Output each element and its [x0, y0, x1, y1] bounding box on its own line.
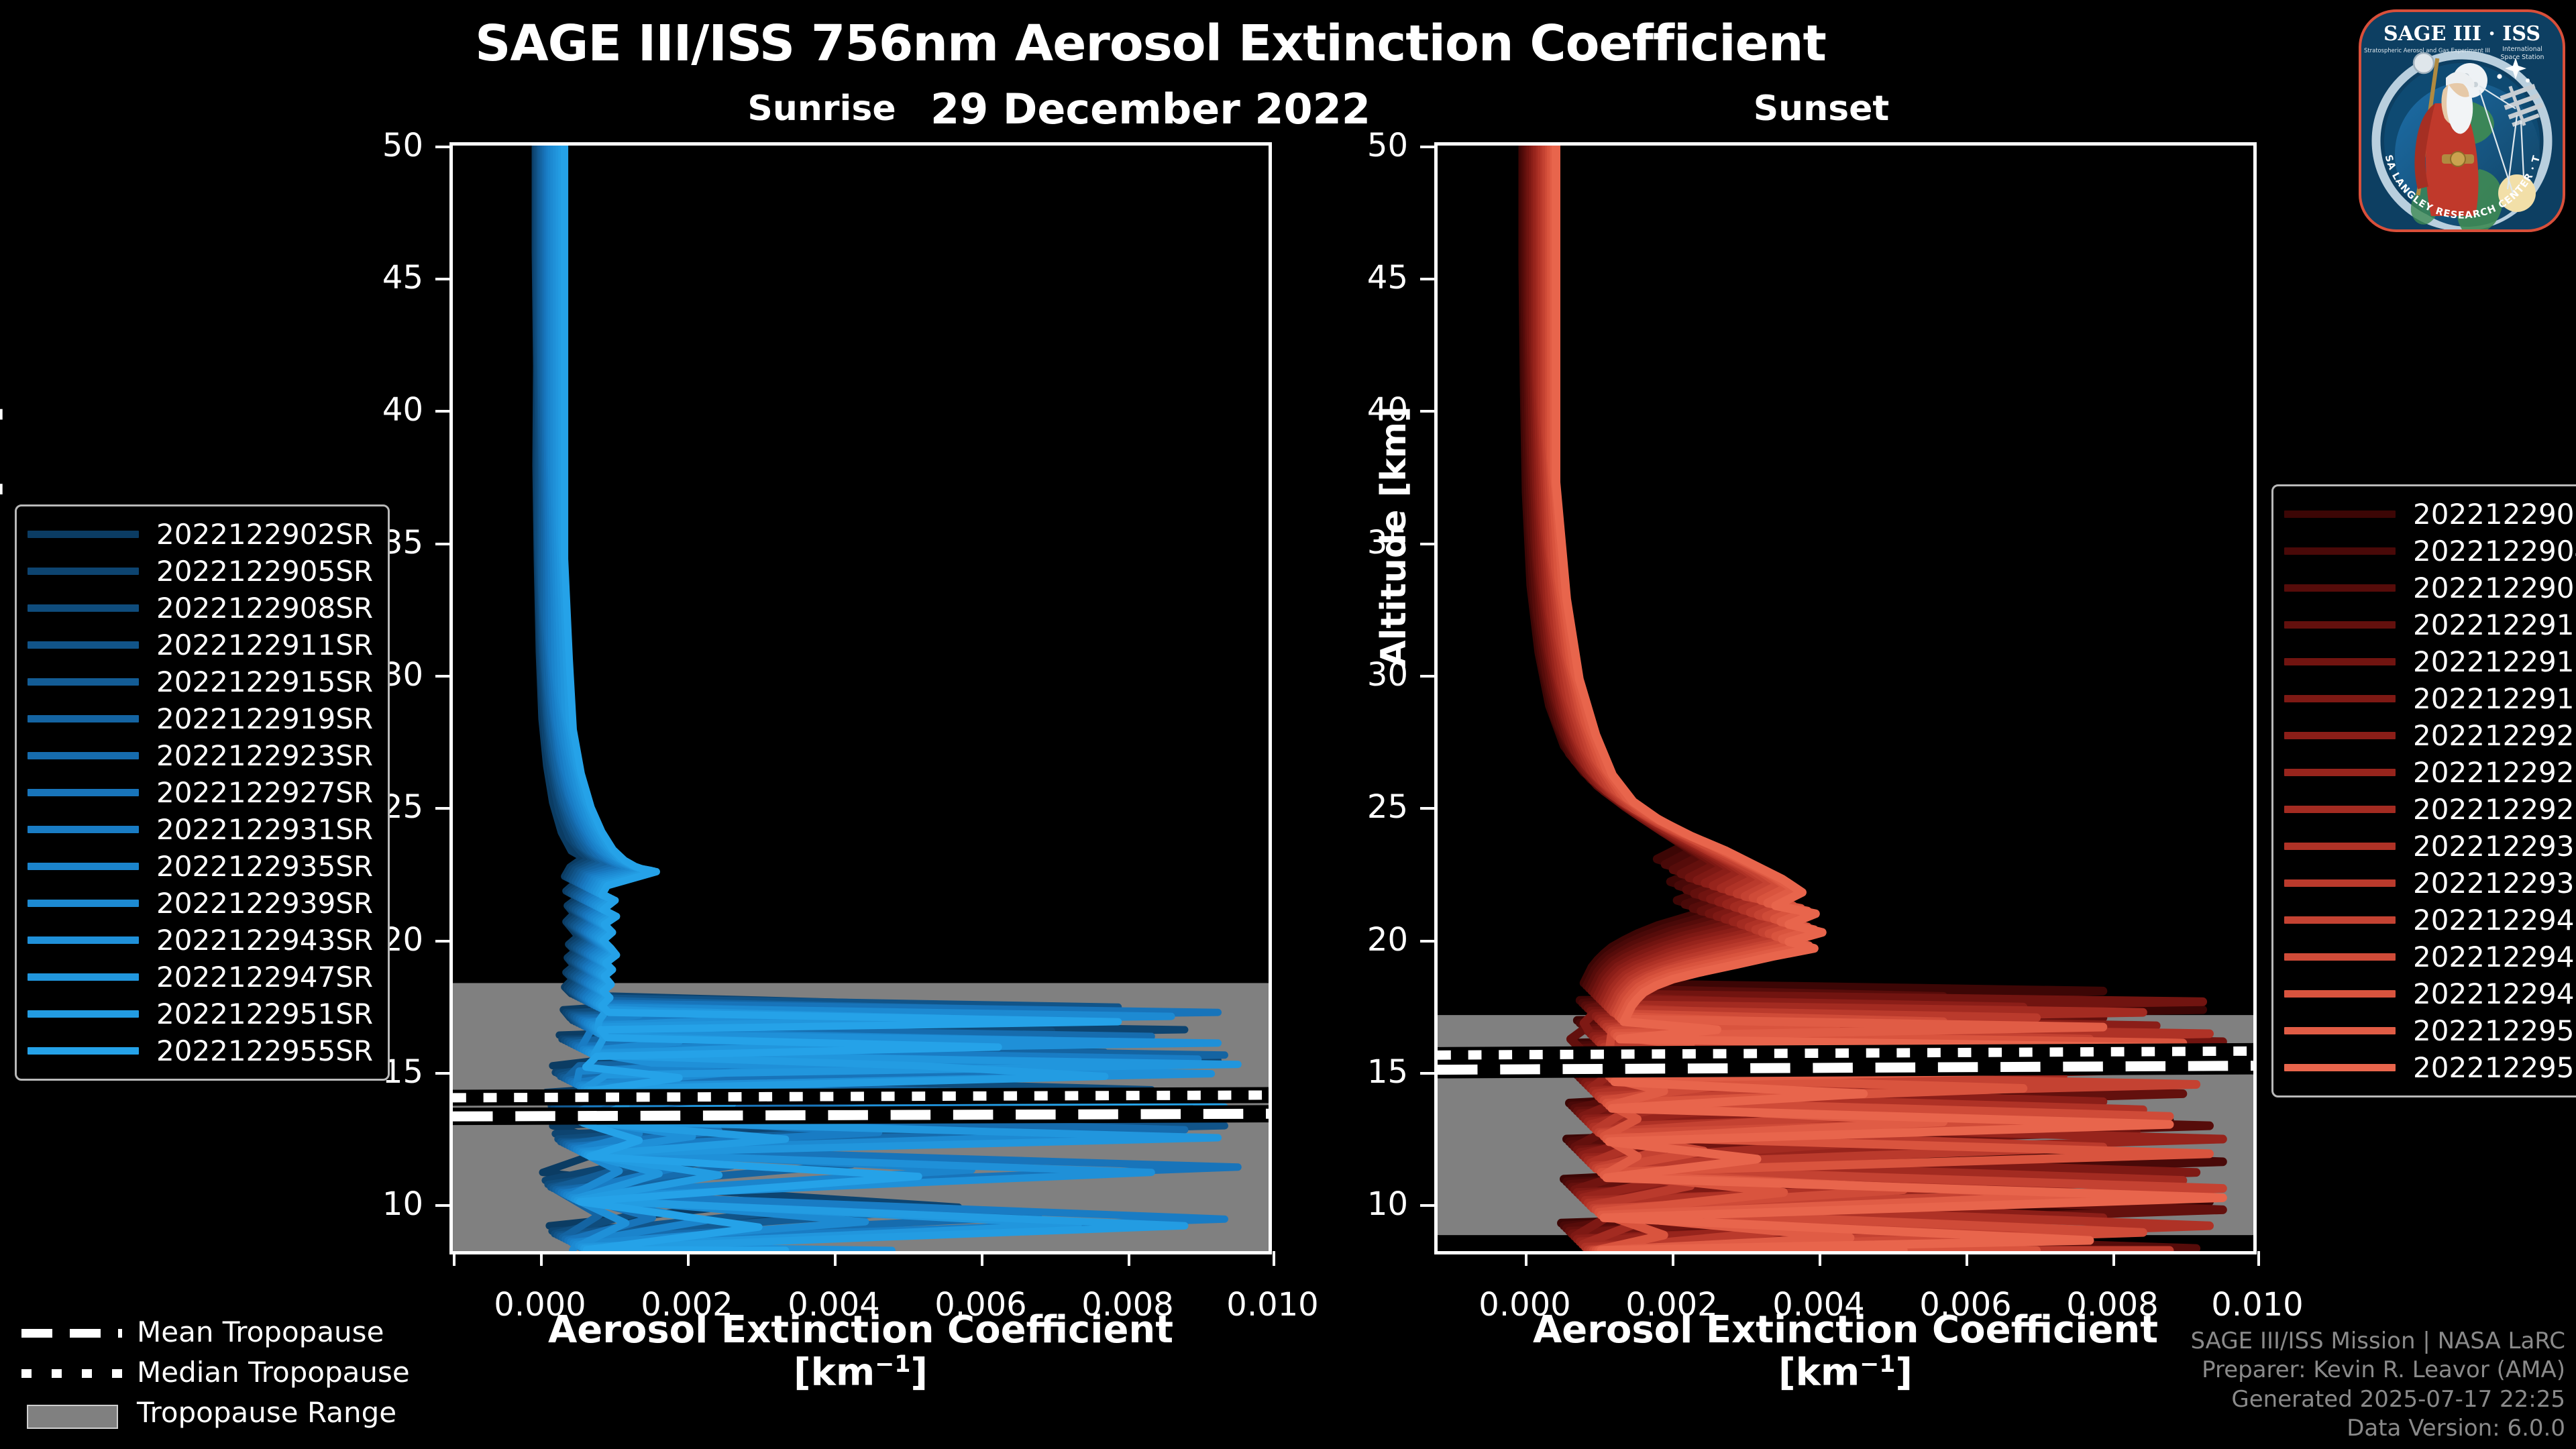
xtick-0.002: 0.002	[1672, 1251, 1674, 1266]
sunset-plot-area	[1438, 146, 2253, 1251]
xtick-0.008: 0.008	[2112, 1251, 2115, 1266]
legend-item[interactable]: 2022122931SR	[28, 811, 373, 848]
series-color-swatch	[28, 604, 139, 612]
patch-title: SAGE III · ISS	[2383, 22, 2540, 46]
sunrise-plot-axes: 50 45 40 35 30 25 20 15 10 0.000 0.002 0…	[449, 142, 1272, 1254]
sage-iii-iss-mission-patch-logo: SAGE III · ISS Stratospheric Aerosol and…	[2348, 1, 2573, 237]
series-color-swatch	[28, 789, 139, 796]
series-color-swatch	[2284, 621, 2396, 629]
series-color-swatch	[2284, 953, 2396, 961]
series-color-swatch	[2284, 658, 2396, 665]
legend-item[interactable]: 2022122908SR	[28, 590, 373, 627]
ytick-15: 15	[435, 1072, 450, 1075]
ytick-30: 30	[1420, 675, 1435, 678]
dotted-line-key-icon	[21, 1363, 122, 1381]
legend-item[interactable]: 2022122917SS	[2284, 680, 2576, 717]
series-color-swatch	[2284, 547, 2396, 555]
series-color-swatch	[28, 568, 139, 575]
ytick-45: 45	[435, 278, 450, 280]
sunrise-x-axis-label: Aerosol Extinction Coefficient [km−1]	[449, 1309, 1272, 1394]
legend-item[interactable]: 2022122935SR	[28, 848, 373, 885]
patch-subtitle-right-2: Space Station	[2501, 54, 2544, 61]
xtick-0.004: 0.004	[1819, 1251, 1821, 1266]
legend-item[interactable]: 2022122951SR	[28, 996, 373, 1032]
attribution-data-version: Data Version: 6.0.0	[2190, 1414, 2565, 1444]
series-color-swatch	[2284, 695, 2396, 702]
sunrise-panel-label: Sunrise	[624, 89, 1020, 129]
series-color-swatch	[28, 531, 139, 538]
xtick-0.010: 0.010	[2257, 1251, 2260, 1266]
series-color-swatch	[28, 900, 139, 907]
legend-item-mean-tropopause[interactable]: Mean Tropopause	[15, 1311, 410, 1352]
ytick-25: 25	[435, 807, 450, 810]
series-color-swatch	[28, 641, 139, 649]
sunrise-x-axis-units: [km−1]	[449, 1352, 1272, 1394]
legend-item[interactable]: 2022122915SR	[28, 663, 373, 700]
series-color-swatch	[2284, 879, 2396, 887]
ytick-25: 25	[1420, 807, 1435, 810]
legend-item[interactable]: 2022122902SR	[28, 516, 373, 553]
ytick-10: 10	[435, 1204, 450, 1207]
series-color-swatch	[28, 936, 139, 944]
series-color-swatch	[28, 1047, 139, 1055]
xtick-0.006: 0.006	[1966, 1251, 1968, 1266]
series-color-swatch	[2284, 990, 2396, 998]
sunrise-plot-area	[453, 146, 1269, 1251]
series-color-swatch	[28, 863, 139, 870]
ytick-30: 30	[435, 675, 450, 678]
sunset-panel-label: Sunset	[1623, 89, 2019, 129]
sunrise-profile-curves	[453, 146, 1269, 1251]
legend-item[interactable]: 2022122949SS	[2284, 975, 2576, 1012]
ytick-35: 35	[435, 543, 450, 545]
legend-item[interactable]: 2022122939SR	[28, 885, 373, 922]
legend-item[interactable]: 2022122929SS	[2284, 791, 2576, 828]
legend-item[interactable]: 2022122925SS	[2284, 754, 2576, 791]
sunset-x-axis-label: Aerosol Extinction Coefficient [km−1]	[1434, 1309, 2257, 1394]
legend-item[interactable]: 2022122941SS	[2284, 902, 2576, 938]
series-color-swatch	[2284, 732, 2396, 739]
legend-item[interactable]: 2022122911SR	[28, 627, 373, 663]
page-title: SAGE III/ISS 756nm Aerosol Extinction Co…	[0, 15, 2301, 72]
series-color-swatch	[28, 715, 139, 722]
legend-item[interactable]: 2022122933SS	[2284, 828, 2576, 865]
patch-subtitle-right-1: International	[2502, 46, 2542, 53]
sunset-profile-curves	[1438, 146, 2253, 1251]
series-color-swatch	[2284, 584, 2396, 592]
ytick-20: 20	[435, 940, 450, 943]
series-color-swatch	[28, 973, 139, 981]
series-color-swatch	[2284, 806, 2396, 813]
series-color-swatch	[2284, 1064, 2396, 1071]
sunrise-x-axis-label-main: Aerosol Extinction Coefficient	[449, 1309, 1272, 1352]
series-color-swatch	[28, 752, 139, 759]
sunrise-y-axis-label: Altitude [km]	[0, 406, 7, 667]
series-color-swatch	[28, 1010, 139, 1018]
legend-item[interactable]: 2022122919SR	[28, 700, 373, 737]
ytick-15: 15	[1420, 1072, 1435, 1075]
attribution-preparer: Preparer: Kevin R. Leavor (AMA)	[2190, 1356, 2565, 1385]
ytick-40: 40	[435, 410, 450, 413]
legend-item[interactable]: 2022122955SR	[28, 1032, 373, 1069]
legend-item[interactable]: 2022122945SS	[2284, 938, 2576, 975]
legend-item[interactable]: 2022122905SR	[28, 553, 373, 590]
legend-item[interactable]: 2022122910SS	[2284, 606, 2576, 643]
series-color-swatch	[2284, 843, 2396, 850]
legend-item[interactable]: 2022122923SR	[28, 737, 373, 774]
filled-band-key-icon	[21, 1403, 122, 1421]
ytick-10: 10	[1420, 1204, 1435, 1207]
ytick-35: 35	[1420, 543, 1435, 545]
series-color-swatch	[28, 678, 139, 686]
dashed-line-key-icon	[21, 1323, 122, 1340]
legend-item[interactable]: 2022122947SR	[28, 959, 373, 996]
xtick-0.000: 0.000	[540, 1251, 543, 1266]
series-color-swatch	[28, 826, 139, 833]
series-color-swatch	[2284, 511, 2396, 518]
series-color-swatch	[2284, 769, 2396, 776]
xtick-0.006: 0.006	[981, 1251, 983, 1266]
legend-item[interactable]: 2022122927SR	[28, 774, 373, 811]
sunset-y-axis-label: Altitude [km]	[1374, 406, 1414, 667]
legend-item[interactable]: 2022122943SR	[28, 922, 373, 959]
xtick-0.002: 0.002	[687, 1251, 690, 1266]
ytick-50: 50	[1420, 146, 1435, 148]
series-color-swatch	[2284, 1027, 2396, 1034]
series-color-swatch	[2284, 916, 2396, 924]
xtick-0.004: 0.004	[834, 1251, 837, 1266]
sunset-x-axis-units: [km−1]	[1434, 1352, 2257, 1394]
ytick-40: 40	[1420, 410, 1435, 413]
legend-item[interactable]: 2022122957SS	[2284, 1049, 2576, 1086]
legend-item[interactable]: 2022122921SS	[2284, 717, 2576, 754]
sunset-plot-axes: 50 45 40 35 30 25 20 15 10 0.000 0.002 0…	[1434, 142, 2257, 1254]
xtick-0.010: 0.010	[1273, 1251, 1275, 1266]
attribution-mission: SAGE III/ISS Mission | NASA LaRC	[2190, 1327, 2565, 1356]
ytick-20: 20	[1420, 940, 1435, 943]
legend-item[interactable]: 2022122904SS	[2284, 533, 2576, 570]
sunrise-series-legend[interactable]: 2022122902SR 2022122905SR 2022122908SR 2…	[15, 504, 390, 1081]
ytick-50: 50	[435, 146, 450, 148]
ytick-45: 45	[1420, 278, 1435, 280]
legend-item-median-tropopause[interactable]: Median Tropopause	[15, 1352, 410, 1392]
legend-item[interactable]: 2022122907SS	[2284, 570, 2576, 606]
sunset-series-legend[interactable]: 2022122901SS 2022122904SS 2022122907SS 2…	[2271, 484, 2576, 1097]
tropopause-legend[interactable]: Mean Tropopause Median Tropopause Tropop…	[15, 1311, 410, 1432]
attribution-generated: Generated 2025-07-17 22:25	[2190, 1385, 2565, 1415]
xtick-0.008: 0.008	[1128, 1251, 1130, 1266]
legend-item[interactable]: 2022122901SS	[2284, 496, 2576, 533]
patch-subtitle-left: Stratospheric Aerosol and Gas Experiment…	[2364, 47, 2490, 54]
legend-item[interactable]: 2022122953SS	[2284, 1012, 2576, 1049]
sunset-x-axis-label-main: Aerosol Extinction Coefficient	[1434, 1309, 2257, 1352]
legend-item[interactable]: 2022122913SS	[2284, 643, 2576, 680]
xtick-0.000: 0.000	[1525, 1251, 1527, 1266]
legend-item[interactable]: 2022122937SS	[2284, 865, 2576, 902]
legend-item-tropopause-range[interactable]: Tropopause Range	[15, 1392, 410, 1432]
attribution-block: SAGE III/ISS Mission | NASA LaRC Prepare…	[2190, 1327, 2565, 1444]
